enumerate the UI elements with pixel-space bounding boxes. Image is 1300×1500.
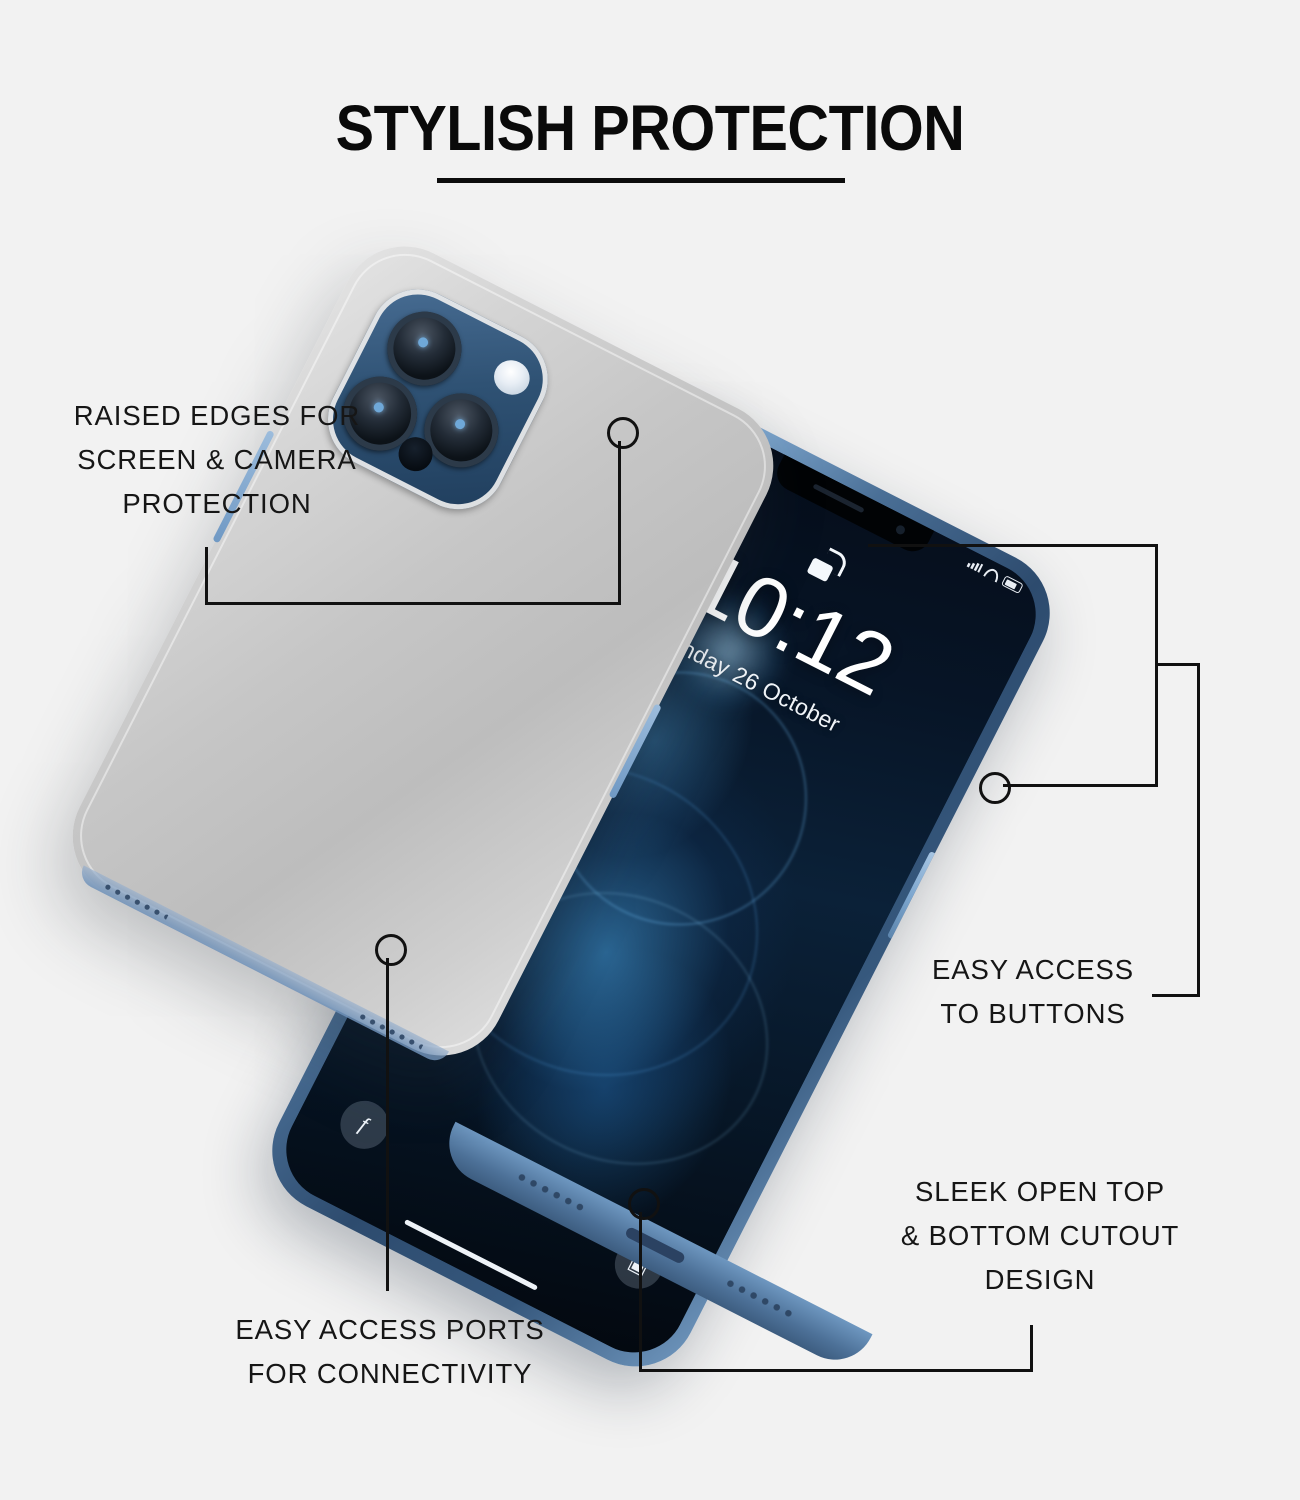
callout-leader-camera-vertical [618, 441, 621, 604]
battery-icon [1001, 575, 1024, 594]
speaker-grille-right [723, 1278, 796, 1320]
status-bar [966, 557, 1024, 594]
callout-marker-ports [375, 934, 407, 966]
cellular-signal-icon [967, 558, 984, 572]
front-camera-icon [894, 524, 906, 536]
flashlight-icon: ƒ [354, 1113, 374, 1137]
callout-leader-camera-horizontal [205, 602, 621, 605]
callout-marker-bottom-cutout [628, 1188, 660, 1220]
callout-leader-cutout-vertical [639, 1212, 642, 1372]
callout-leader-top-branch [868, 544, 1158, 547]
callout-marker-camera [607, 417, 639, 449]
callout-leader-ports-vertical [386, 958, 389, 1291]
callout-leader-junction [1155, 663, 1200, 666]
callout-leader-camera-stub [205, 547, 208, 605]
camera-flash-icon [488, 354, 536, 401]
callout-cutout-label: SLEEK OPEN TOP & BOTTOM CUTOUT DESIGN [880, 1170, 1200, 1302]
infographic-root: STYLISH PROTECTION [0, 0, 1300, 1500]
callout-leader-cutout-horizontal [639, 1369, 1033, 1372]
callout-leader-cutout-stub [1030, 1325, 1033, 1372]
earpiece-speaker-icon [812, 483, 864, 513]
callout-marker-side-button [979, 772, 1011, 804]
callout-leader-bottom-branch [1003, 784, 1158, 787]
callout-ports-label: EASY ACCESS PORTS FOR CONNECTIVITY [190, 1308, 590, 1396]
callout-raised-edges-label: RAISED EDGES FOR SCREEN & CAMERA PROTECT… [22, 394, 412, 526]
callout-leader-right-spine [1197, 663, 1200, 996]
wifi-icon [983, 566, 1001, 583]
screen-notch [771, 454, 934, 557]
home-indicator [404, 1219, 538, 1291]
callout-buttons-label: EASY ACCESS TO BUTTONS [888, 948, 1178, 1036]
